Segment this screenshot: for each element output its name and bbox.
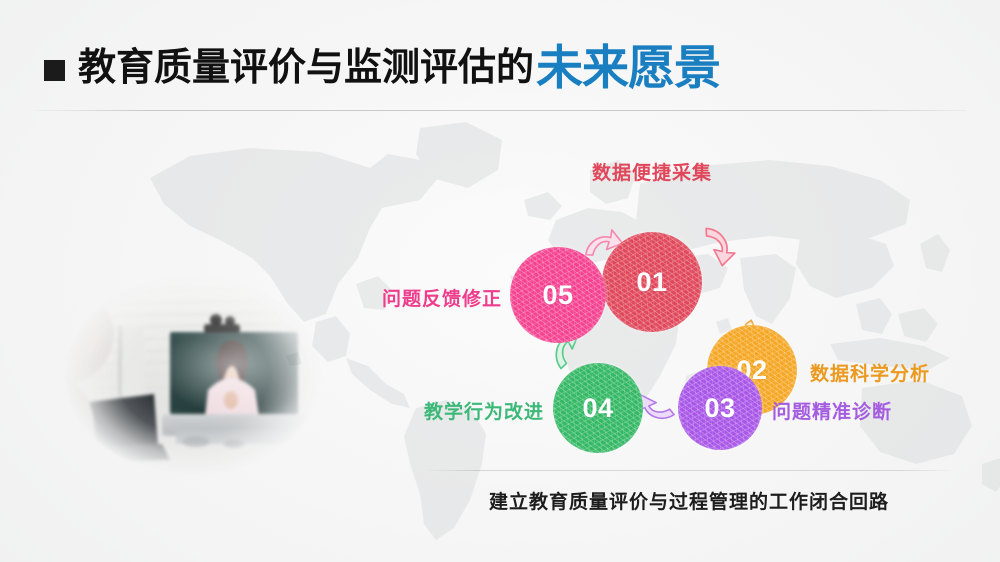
page-title-main: 教育质量评价与监测评估的 xyxy=(78,49,534,87)
cycle-node-05[interactable]: 05 xyxy=(510,247,606,343)
page-title-accent: 未来愿景 xyxy=(536,44,720,91)
arrow-03-to-04 xyxy=(638,395,676,420)
cycle-node-01-number: 01 xyxy=(636,267,667,298)
caption-divider xyxy=(428,470,950,471)
cycle-node-03-label: 问题精准诊断 xyxy=(772,397,892,424)
cycle-node-01-label: 数据便捷采集 xyxy=(572,158,732,185)
classroom-photo-container xyxy=(58,270,328,480)
cycle-node-04-label: 教学行为改进 xyxy=(422,397,544,424)
page-title: 教育质量评价与监测评估的 未来愿景 xyxy=(78,40,720,87)
cycle-node-03-number: 03 xyxy=(704,393,735,424)
cycle-node-05-label: 问题反馈修正 xyxy=(380,284,502,311)
arrow-01-to-02 xyxy=(695,225,738,267)
slide-canvas: 教育质量评价与监测评估的 未来愿景 xyxy=(0,0,1000,562)
cycle-node-04-number: 04 xyxy=(582,393,613,424)
square-bullet-icon xyxy=(44,60,65,81)
cycle-node-02-label: 数据科学分析 xyxy=(810,359,930,386)
cycle-node-01[interactable]: 01 xyxy=(602,232,702,332)
cycle-node-05-number: 05 xyxy=(542,280,573,311)
slide-caption: 建立教育质量评价与过程管理的工作闭合回路 xyxy=(428,487,950,514)
closed-loop-cycle-diagram: 01 数据便捷采集 02 数据科学分析 03 问题精准诊断 04 教学行为改进 xyxy=(380,130,960,470)
header-divider xyxy=(36,110,966,111)
slide-header: 教育质量评价与监测评估的 未来愿景 xyxy=(0,0,1000,112)
classroom-video-conference-photo xyxy=(58,270,328,480)
cycle-node-03[interactable]: 03 xyxy=(678,366,762,450)
cycle-node-04[interactable]: 04 xyxy=(553,363,643,453)
